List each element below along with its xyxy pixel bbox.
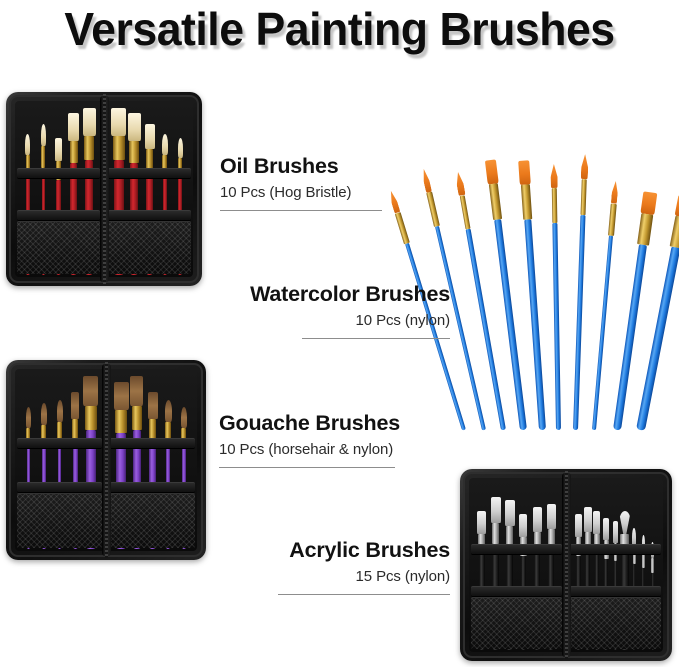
brush-bristle — [584, 507, 592, 531]
elastic-strap — [17, 210, 101, 221]
brush-ferrule — [395, 212, 409, 245]
brush-handle — [524, 220, 545, 431]
watercolor-brush — [550, 164, 562, 430]
label-acrylic-brushes: Acrylic Brushes 15 Pcs (nylon) — [240, 539, 450, 595]
brush-bristle — [162, 134, 168, 155]
brush-bristle — [421, 168, 432, 193]
mesh-pocket — [108, 221, 192, 274]
elastic-strap — [110, 482, 195, 493]
elastic-strap — [471, 586, 562, 597]
case-left-leaf — [15, 101, 102, 277]
oil-brushes-heading: Oil Brushes — [220, 155, 390, 179]
watercolor-brush-fan — [455, 130, 679, 430]
brush-bristle — [518, 160, 531, 185]
gouache-brushes-spec: 10 Pcs (horsehair & nylon) — [219, 441, 449, 458]
brush-ferrule — [459, 195, 471, 230]
case-left-leaf — [15, 369, 104, 551]
elastic-strap — [570, 544, 661, 555]
brush-bristle — [505, 500, 515, 525]
acrylic-brush-case — [460, 469, 672, 661]
brush-ferrule — [85, 406, 97, 430]
brush-ferrule — [70, 141, 79, 164]
divider-rule — [278, 594, 450, 595]
zipper-icon — [105, 362, 108, 558]
brush-bristle — [55, 138, 62, 161]
brush-bristle — [491, 497, 501, 523]
brush-bristle — [130, 376, 143, 405]
brush-bristle — [547, 504, 556, 529]
brush-bristle — [57, 400, 63, 422]
brush-ferrule — [492, 523, 500, 544]
brush-bristle — [477, 511, 486, 535]
brush-bristle — [603, 518, 609, 540]
divider-rule — [220, 210, 382, 211]
elastic-strap — [17, 438, 102, 449]
mesh-pocket — [570, 597, 661, 649]
zipper-icon — [565, 471, 568, 659]
brush-bristle — [128, 113, 141, 141]
brush-ferrule — [637, 213, 653, 246]
elastic-strap — [471, 544, 562, 555]
brush-ferrule — [129, 141, 139, 164]
brush-ferrule — [521, 185, 533, 221]
gouache-brushes-heading: Gouache Brushes — [219, 412, 449, 436]
brush-bristle — [114, 382, 129, 410]
brush-bristle — [519, 514, 527, 537]
brush-bristle — [26, 407, 31, 428]
brush-bristle — [25, 134, 30, 155]
acrylic-brushes-spec: 15 Pcs (nylon) — [240, 568, 450, 585]
case-left-leaf — [469, 478, 564, 652]
brush-bristle — [619, 511, 631, 535]
case-right-leaf — [106, 101, 193, 277]
brush-ferrule — [132, 406, 142, 430]
brush-bristle — [165, 400, 172, 422]
case-right-leaf — [568, 478, 663, 652]
divider-rule — [302, 338, 450, 339]
brush-bristle — [611, 181, 619, 204]
brush-ferrule — [427, 192, 440, 227]
oil-brush-case — [6, 92, 202, 286]
watercolor-brush — [572, 154, 589, 430]
brush-handle — [573, 215, 585, 430]
brush-handle — [553, 223, 561, 431]
brush-bristle — [148, 392, 158, 419]
mesh-pocket — [110, 493, 195, 548]
acrylic-brushes-heading: Acrylic Brushes — [240, 539, 450, 563]
watercolor-brushes-heading: Watercolor Brushes — [245, 283, 450, 307]
brush-bristle — [455, 171, 466, 195]
elastic-strap — [17, 168, 101, 179]
label-watercolor-brushes: Watercolor Brushes 10 Pcs (nylon) — [245, 283, 450, 339]
brush-ferrule — [651, 558, 653, 573]
brush-handle — [592, 236, 613, 431]
brush-bristle — [613, 521, 618, 543]
brush-bristle — [145, 124, 155, 150]
brush-bristle — [533, 507, 542, 531]
label-oil-brushes: Oil Brushes 10 Pcs (Hog Bristle) — [220, 155, 390, 211]
brush-bristle — [550, 164, 557, 188]
infographic-canvas: Versatile Painting Brushes Oil Brus — [0, 0, 679, 667]
label-gouache-brushes: Gouache Brushes 10 Pcs (horsehair & nylo… — [219, 412, 449, 468]
brush-bristle — [485, 159, 499, 185]
elastic-strap — [17, 482, 102, 493]
elastic-strap — [570, 586, 661, 597]
brush-ferrule — [41, 146, 45, 167]
gouache-brush-case — [6, 360, 206, 560]
brush-bristle — [640, 191, 657, 214]
page-title: Versatile Painting Brushes — [10, 2, 669, 56]
brush-bristle — [71, 392, 79, 419]
zipper-icon — [103, 94, 106, 284]
brush-bristle — [111, 108, 126, 136]
brush-bristle — [68, 113, 79, 141]
brush-bristle — [581, 154, 589, 179]
mesh-pocket — [17, 221, 101, 274]
brush-ferrule — [551, 188, 558, 223]
elastic-strap — [108, 210, 192, 221]
brush-bristle — [83, 108, 96, 136]
mesh-pocket — [471, 597, 562, 649]
brush-bristle — [41, 403, 47, 425]
brush-bristle — [41, 124, 46, 147]
brush-ferrule — [84, 136, 94, 159]
case-right-leaf — [108, 369, 197, 551]
mesh-pocket — [17, 493, 102, 548]
brush-bristle — [83, 376, 98, 405]
brush-ferrule — [670, 216, 679, 249]
brush-ferrule — [489, 184, 503, 220]
brush-bristle — [181, 407, 187, 428]
elastic-strap — [110, 438, 195, 449]
brush-bristle — [575, 514, 582, 537]
brush-bristle — [593, 511, 600, 535]
brush-ferrule — [580, 179, 587, 215]
divider-rule — [219, 467, 395, 468]
watercolor-brushes-spec: 10 Pcs (nylon) — [245, 312, 450, 329]
brush-ferrule — [608, 203, 616, 236]
brush-bristle — [178, 138, 183, 159]
elastic-strap — [108, 168, 192, 179]
brush-ferrule — [113, 136, 125, 159]
oil-brushes-spec: 10 Pcs (Hog Bristle) — [220, 184, 390, 201]
brush-ferrule — [115, 410, 127, 433]
